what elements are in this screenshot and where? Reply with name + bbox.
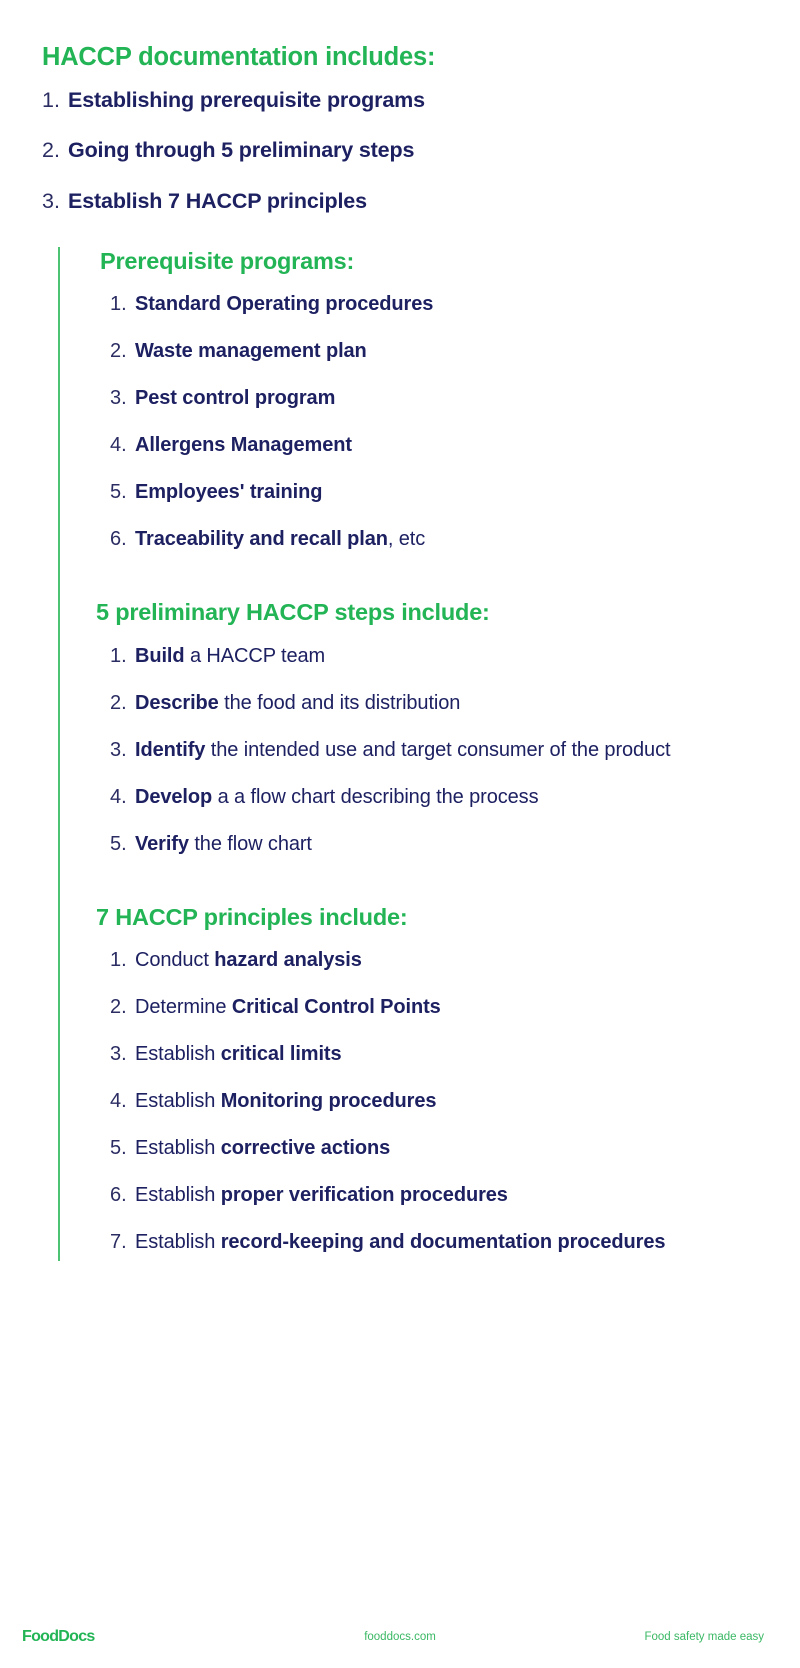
list-item-label: Allergens Management [135, 432, 352, 458]
list-item: 5. Employees' training [110, 479, 760, 505]
list-item: 5. Verify the flow chart [110, 831, 760, 857]
list-item-number: 3. [110, 737, 135, 763]
list-item-number: 5. [110, 479, 135, 505]
section-heading: 5 preliminary HACCP steps include: [96, 598, 760, 626]
list-item-number: 4. [110, 784, 135, 810]
list-item: 2. Describe the food and its distributio… [110, 690, 760, 716]
list-item-label: Establish 7 HACCP principles [68, 188, 367, 215]
list-item-lead: Establish [135, 1231, 221, 1253]
list-item-emphasis: Build [135, 645, 185, 667]
list-item-label: Pest control program [135, 385, 335, 411]
list-item: 1. Conduct hazard analysis [110, 947, 760, 973]
list-item-emphasis: Standard Operating procedures [135, 293, 433, 315]
section-haccp-principles: 7 HACCP principles include: 1. Conduct h… [100, 903, 760, 1255]
list-item-emphasis: Pest control program [135, 387, 335, 409]
list-item-emphasis: hazard analysis [214, 949, 361, 971]
section-heading: Prerequisite programs: [100, 247, 760, 275]
list-item-number: 2. [42, 137, 68, 164]
list-item: 4. Establish Monitoring procedures [110, 1088, 760, 1114]
list-item-emphasis: Allergens Management [135, 434, 352, 456]
list-item-number: 5. [110, 1135, 135, 1161]
prerequisite-list: 1. Standard Operating procedures 2. Wast… [100, 291, 760, 552]
footer-website: fooddocs.com [364, 1631, 436, 1643]
list-item: 2. Waste management plan [110, 338, 760, 364]
list-item-label: Employees' training [135, 479, 322, 505]
list-item-label: Identify the intended use and target con… [135, 737, 670, 763]
list-item-label: Establish Monitoring procedures [135, 1088, 436, 1114]
list-item-rest: a a flow chart describing the process [212, 786, 538, 808]
list-item-number: 1. [110, 947, 135, 973]
list-item-label: Describe the food and its distribution [135, 690, 460, 716]
list-item-lead: Establish [135, 1043, 221, 1065]
list-item-emphasis: Develop [135, 786, 212, 808]
list-item-rest: the flow chart [189, 833, 312, 855]
section-preliminary-steps: 5 preliminary HACCP steps include: 1. Bu… [100, 598, 760, 856]
preliminary-steps-list: 1. Build a HACCP team 2. Describe the fo… [100, 643, 760, 857]
list-item-number: 4. [110, 432, 135, 458]
list-item: 2. Determine Critical Control Points [110, 994, 760, 1020]
list-item-number: 2. [110, 994, 135, 1020]
list-item: 1. Standard Operating procedures [110, 291, 760, 317]
list-item-emphasis: Monitoring procedures [221, 1090, 437, 1112]
list-item-label: Establishing prerequisite programs [68, 87, 425, 114]
main-heading: HACCP documentation includes: [42, 42, 760, 73]
list-item-emphasis: Traceability and recall plan [135, 528, 388, 550]
list-item-label: Develop a a flow chart describing the pr… [135, 784, 538, 810]
list-item-rest: , etc [388, 528, 425, 550]
list-item-number: 1. [110, 643, 135, 669]
list-item: 7. Establish record-keeping and document… [110, 1229, 760, 1255]
list-item: 4. Allergens Management [110, 432, 760, 458]
list-item-lead: Conduct [135, 949, 214, 971]
list-item: 3. Pest control program [110, 385, 760, 411]
list-item-number: 6. [110, 526, 135, 552]
list-item-lead: Establish [135, 1184, 221, 1206]
list-item-emphasis: Verify [135, 833, 189, 855]
section-prerequisite-programs: Prerequisite programs: 1. Standard Opera… [100, 247, 760, 552]
list-item-number: 3. [110, 1041, 135, 1067]
principles-list: 1. Conduct hazard analysis 2. Determine … [100, 947, 760, 1255]
list-item-label: Establish corrective actions [135, 1135, 390, 1161]
main-list: 1. Establishing prerequisite programs 2.… [42, 87, 760, 216]
list-item-label: Standard Operating procedures [135, 291, 433, 317]
list-item-number: 4. [110, 1088, 135, 1114]
list-item: 6. Establish proper verification procedu… [110, 1182, 760, 1208]
list-item-number: 1. [110, 291, 135, 317]
list-item: 2. Going through 5 preliminary steps [42, 137, 760, 164]
list-item-number: 6. [110, 1182, 135, 1208]
list-item: 3. Establish critical limits [110, 1041, 760, 1067]
list-item: 3. Establish 7 HACCP principles [42, 188, 760, 215]
list-item-emphasis: Waste management plan [135, 340, 367, 362]
list-item-label: Establish critical limits [135, 1041, 342, 1067]
list-item-lead: Establish [135, 1090, 221, 1112]
detail-sections: Prerequisite programs: 1. Standard Opera… [58, 247, 760, 1261]
list-item-label: Conduct hazard analysis [135, 947, 362, 973]
list-item-label: Build a HACCP team [135, 643, 325, 669]
list-item-number: 7. [110, 1229, 135, 1255]
footer-tagline: Food safety made easy [644, 1631, 764, 1643]
list-item-label: Establish proper verification procedures [135, 1182, 508, 1208]
list-item-label: Waste management plan [135, 338, 367, 364]
list-item-emphasis: Employees' training [135, 481, 322, 503]
list-item-number: 2. [110, 690, 135, 716]
list-item: 1. Establishing prerequisite programs [42, 87, 760, 114]
list-item-rest: the intended use and target consumer of … [205, 739, 670, 761]
list-item-lead: Determine [135, 996, 232, 1018]
list-item-number: 3. [42, 188, 68, 215]
list-item-emphasis: critical limits [221, 1043, 342, 1065]
list-item-number: 2. [110, 338, 135, 364]
list-item-label: Going through 5 preliminary steps [68, 137, 414, 164]
page-footer: FoodDocs fooddocs.com Food safety made e… [0, 1624, 800, 1650]
list-item-emphasis: proper verification procedures [221, 1184, 508, 1206]
list-item: 4. Develop a a flow chart describing the… [110, 784, 760, 810]
list-item: 3. Identify the intended use and target … [110, 737, 760, 763]
list-item-number: 5. [110, 831, 135, 857]
list-item-emphasis: Critical Control Points [232, 996, 441, 1018]
list-item-lead: Establish [135, 1137, 221, 1159]
list-item-label: Traceability and recall plan, etc [135, 526, 425, 552]
list-item-number: 3. [110, 385, 135, 411]
list-item: 6. Traceability and recall plan, etc [110, 526, 760, 552]
infographic-page: HACCP documentation includes: 1. Establi… [0, 0, 800, 1668]
list-item-rest: the food and its distribution [219, 692, 461, 714]
list-item: 1. Build a HACCP team [110, 643, 760, 669]
list-item-label: Establish record-keeping and documentati… [135, 1229, 665, 1255]
list-item-number: 1. [42, 87, 68, 114]
list-item-rest: a HACCP team [185, 645, 326, 667]
list-item-label: Verify the flow chart [135, 831, 312, 857]
list-item-emphasis: corrective actions [221, 1137, 390, 1159]
list-item-emphasis: Describe [135, 692, 219, 714]
section-heading: 7 HACCP principles include: [96, 903, 760, 931]
fooddocs-logo: FoodDocs [22, 1628, 95, 1646]
list-item-label: Determine Critical Control Points [135, 994, 441, 1020]
list-item-emphasis: record-keeping and documentation procedu… [221, 1231, 666, 1253]
list-item-emphasis: Identify [135, 739, 205, 761]
list-item: 5. Establish corrective actions [110, 1135, 760, 1161]
